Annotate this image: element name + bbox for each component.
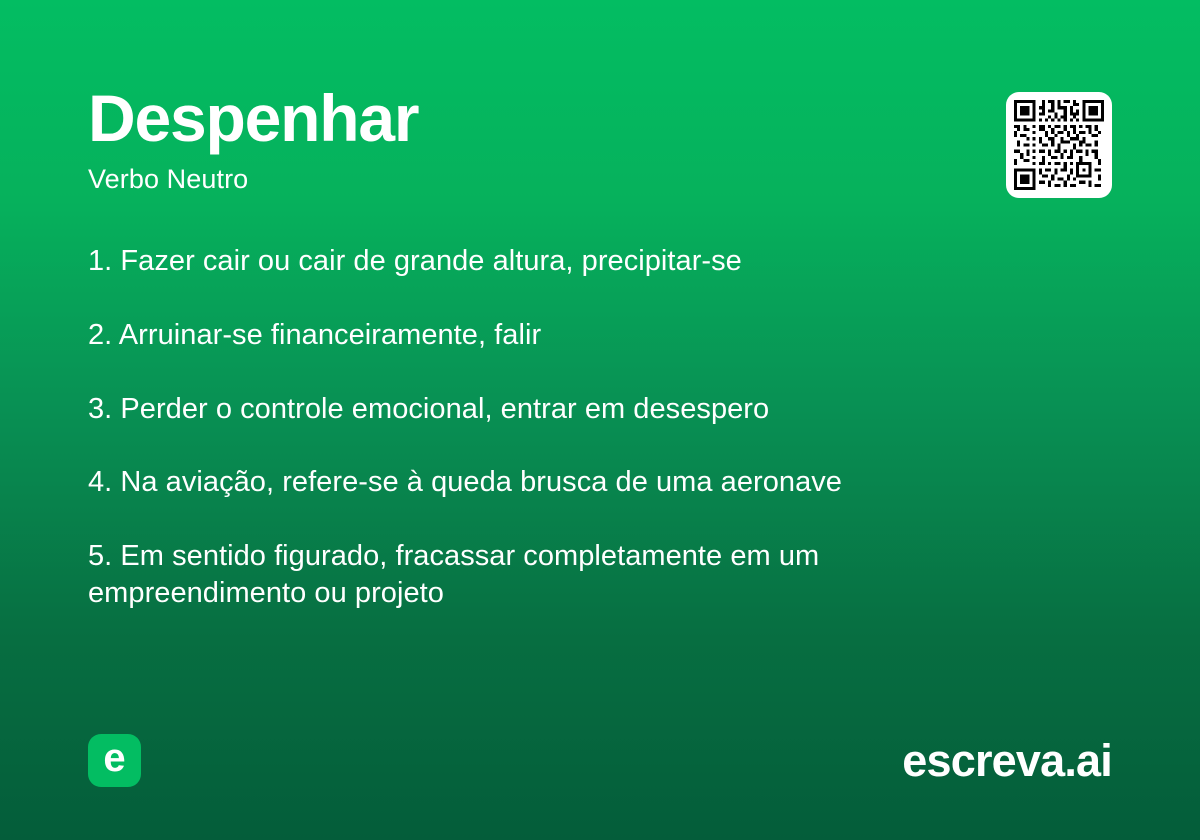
definition-item: 2. Arruinar-se financeiramente, falir <box>88 317 1043 354</box>
headings-group: Despenhar Verbo Neutro <box>88 84 418 194</box>
definition-item: 4. Na aviação, refere-se à queda brusca … <box>88 464 1043 501</box>
page-title: Despenhar <box>88 86 418 151</box>
qr-code-icon[interactable] <box>1006 92 1112 198</box>
dictionary-card: Despenhar Verbo Neutro <box>0 0 1200 840</box>
brand-name: escreva.ai <box>902 738 1112 783</box>
escreva-logo-icon[interactable]: e <box>88 734 141 787</box>
definition-item: 1. Fazer cair ou cair de grande altura, … <box>88 243 1043 280</box>
word-class-label: Verbo Neutro <box>88 165 418 195</box>
definition-item: 5. Em sentido figurado, fracassar comple… <box>88 538 1043 612</box>
card-header: Despenhar Verbo Neutro <box>88 84 1112 198</box>
definitions-list: 1. Fazer cair ou cair de grande altura, … <box>88 243 1043 612</box>
definition-item: 3. Perder o controle emocional, entrar e… <box>88 391 1043 428</box>
card-footer: e escreva.ai <box>88 732 1112 788</box>
